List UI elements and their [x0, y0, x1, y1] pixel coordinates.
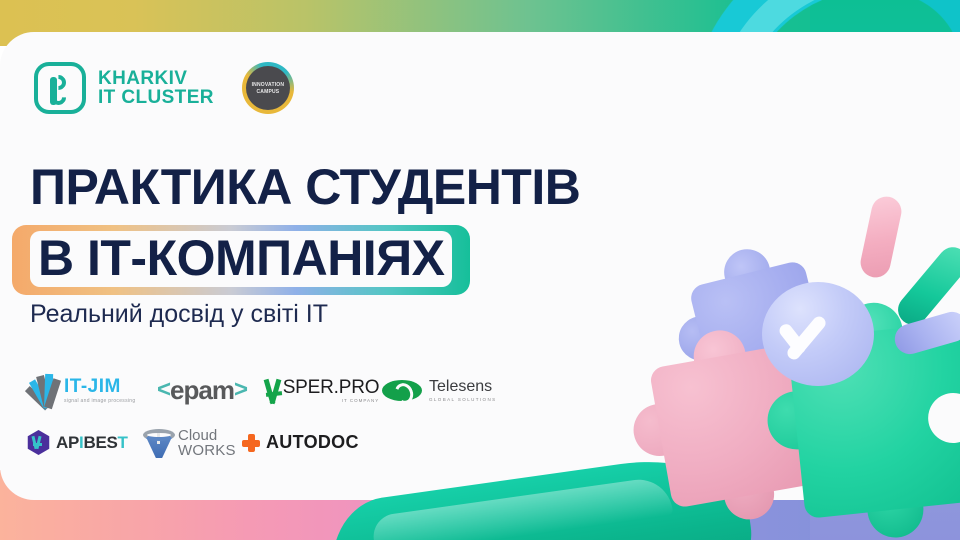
partner-logo-telesens[interactable]: Telesens GLOBAL SOLUTIONS	[382, 379, 502, 402]
epam-bracket-right: >	[234, 376, 247, 404]
partner-logos: IT-JIM signal and image processing < epa…	[26, 372, 502, 459]
apibest-part-3: BES	[83, 434, 117, 451]
cloudworks-wordmark-line2: WORKS	[178, 443, 236, 458]
cloudworks-funnel-icon	[142, 426, 176, 459]
page-title-line1: ПРАКТИКА СТУДЕНТІВ	[30, 162, 580, 212]
epam-brackets-icon: < epam >	[157, 375, 247, 406]
it-jim-tagline: signal and image processing	[64, 398, 135, 404]
page-subtitle: Реальний досвід у світі ІТ	[30, 300, 328, 329]
kic-line2: IT CLUSTER	[98, 88, 214, 107]
apibest-hexagon-icon	[26, 430, 51, 455]
kharkiv-it-cluster-logo[interactable]: KHARKIV IT CLUSTER	[34, 62, 214, 114]
it-jim-wordmark: IT-JIM	[64, 377, 135, 396]
partner-logo-it-jim[interactable]: IT-JIM signal and image processing	[26, 372, 142, 408]
epam-bracket-left: <	[157, 376, 170, 404]
apibest-part-4: T	[118, 434, 128, 451]
ic-line2: CAMPUS	[256, 89, 279, 95]
page-title-highlight-box: В ІТ-КОМПАНІЯХ	[12, 225, 470, 295]
cloudworks-wordmark-line1: Cloud	[178, 428, 236, 443]
page-title-line2: В ІТ-КОМПАНІЯХ	[38, 233, 444, 283]
epam-wordmark: epam	[170, 375, 234, 406]
asper-tagline: IT COMPANY	[283, 398, 380, 403]
it-jim-fan-icon	[26, 372, 68, 408]
asper-a-icon	[265, 379, 285, 403]
partner-logo-cloudworks[interactable]: Cloud WORKS	[142, 426, 242, 459]
brand-bar: KHARKIV IT CLUSTER INNOVATION CAMPUS	[34, 62, 294, 114]
kharkiv-it-cluster-k-mark-icon	[34, 62, 86, 114]
partner-logo-apibest[interactable]: AP I BES T	[26, 430, 142, 455]
telesens-wordmark: Telesens	[429, 379, 497, 395]
telesens-tagline: GLOBAL SOLUTIONS	[429, 397, 497, 402]
hero-content: KHARKIV IT CLUSTER INNOVATION CAMPUS ПРА…	[0, 0, 960, 540]
partner-logos-row-2: AP I BES T Cloud WORKS	[26, 426, 502, 459]
innovation-campus-badge-icon[interactable]: INNOVATION CAMPUS	[242, 62, 294, 114]
autodoc-plus-icon	[242, 434, 260, 452]
telesens-swirl-icon	[382, 380, 422, 401]
partner-logo-epam[interactable]: < epam >	[142, 375, 262, 406]
kic-line1: KHARKIV	[98, 69, 214, 88]
autodoc-wordmark: AUTODOC	[266, 432, 359, 453]
ic-line1: INNOVATION	[252, 82, 285, 88]
partner-logo-autodoc[interactable]: AUTODOC	[242, 432, 352, 453]
apibest-part-1: AP	[56, 434, 79, 451]
partner-logos-row-1: IT-JIM signal and image processing < epa…	[26, 372, 502, 408]
kharkiv-it-cluster-wordmark: KHARKIV IT CLUSTER	[98, 69, 214, 108]
asper-wordmark: SPER.PRO	[283, 378, 380, 397]
partner-logo-asper-pro[interactable]: SPER.PRO IT COMPANY	[262, 378, 382, 403]
apibest-wordmark: AP I BES T	[56, 434, 128, 451]
